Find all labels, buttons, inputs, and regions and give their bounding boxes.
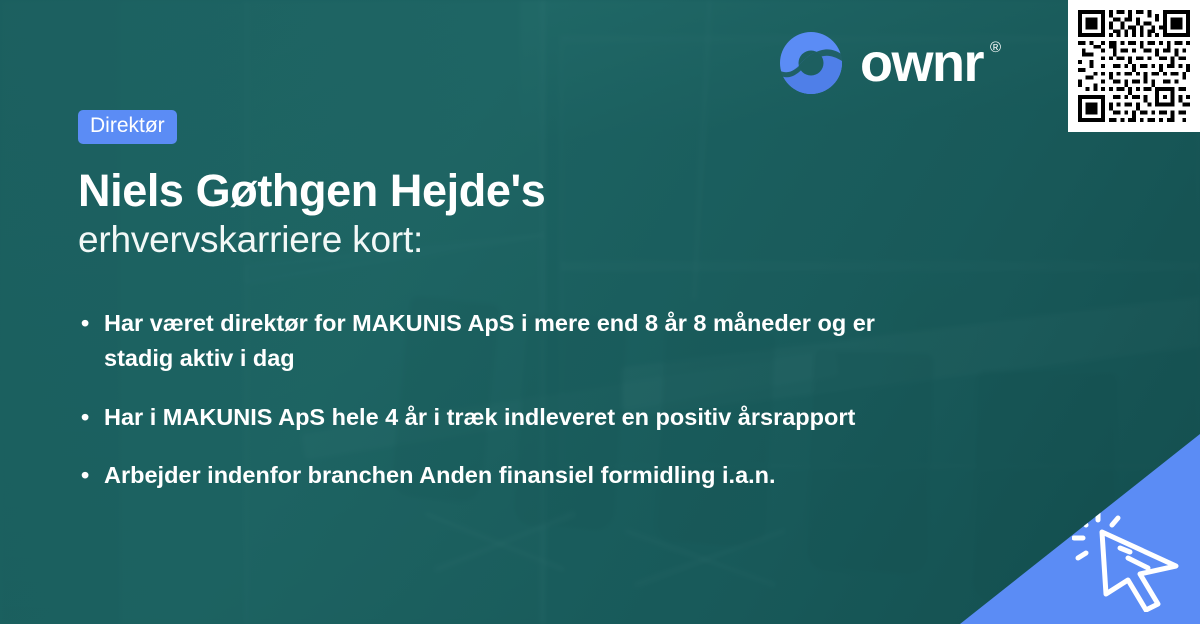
registered-trademark-symbol: ® (990, 40, 1001, 55)
ownr-logo[interactable]: ownr® (778, 30, 1001, 96)
qr-code-panel[interactable] (1068, 0, 1200, 132)
qr-code-icon (1078, 10, 1190, 122)
list-item: Arbejder indenfor branchen Anden finansi… (78, 458, 908, 493)
headline-block: Direktør Niels Gøthgen Hejde's erhvervsk… (78, 110, 958, 263)
ownr-wordmark: ownr® (860, 36, 1001, 90)
role-badge: Direktør (78, 110, 177, 144)
person-name: Niels Gøthgen Hejde's (78, 166, 958, 216)
career-card: ownr® (0, 0, 1200, 624)
list-item: Har i MAKUNIS ApS hele 4 år i træk indle… (78, 400, 908, 435)
list-item: Har været direktør for MAKUNIS ApS i mer… (78, 306, 918, 376)
page-subtitle: erhvervskarriere kort: (78, 217, 958, 263)
career-highlights-list: Har været direktør for MAKUNIS ApS i mer… (78, 306, 938, 517)
ownr-circle-swirl-icon (778, 30, 844, 96)
ownr-wordmark-text: ownr (860, 33, 983, 93)
